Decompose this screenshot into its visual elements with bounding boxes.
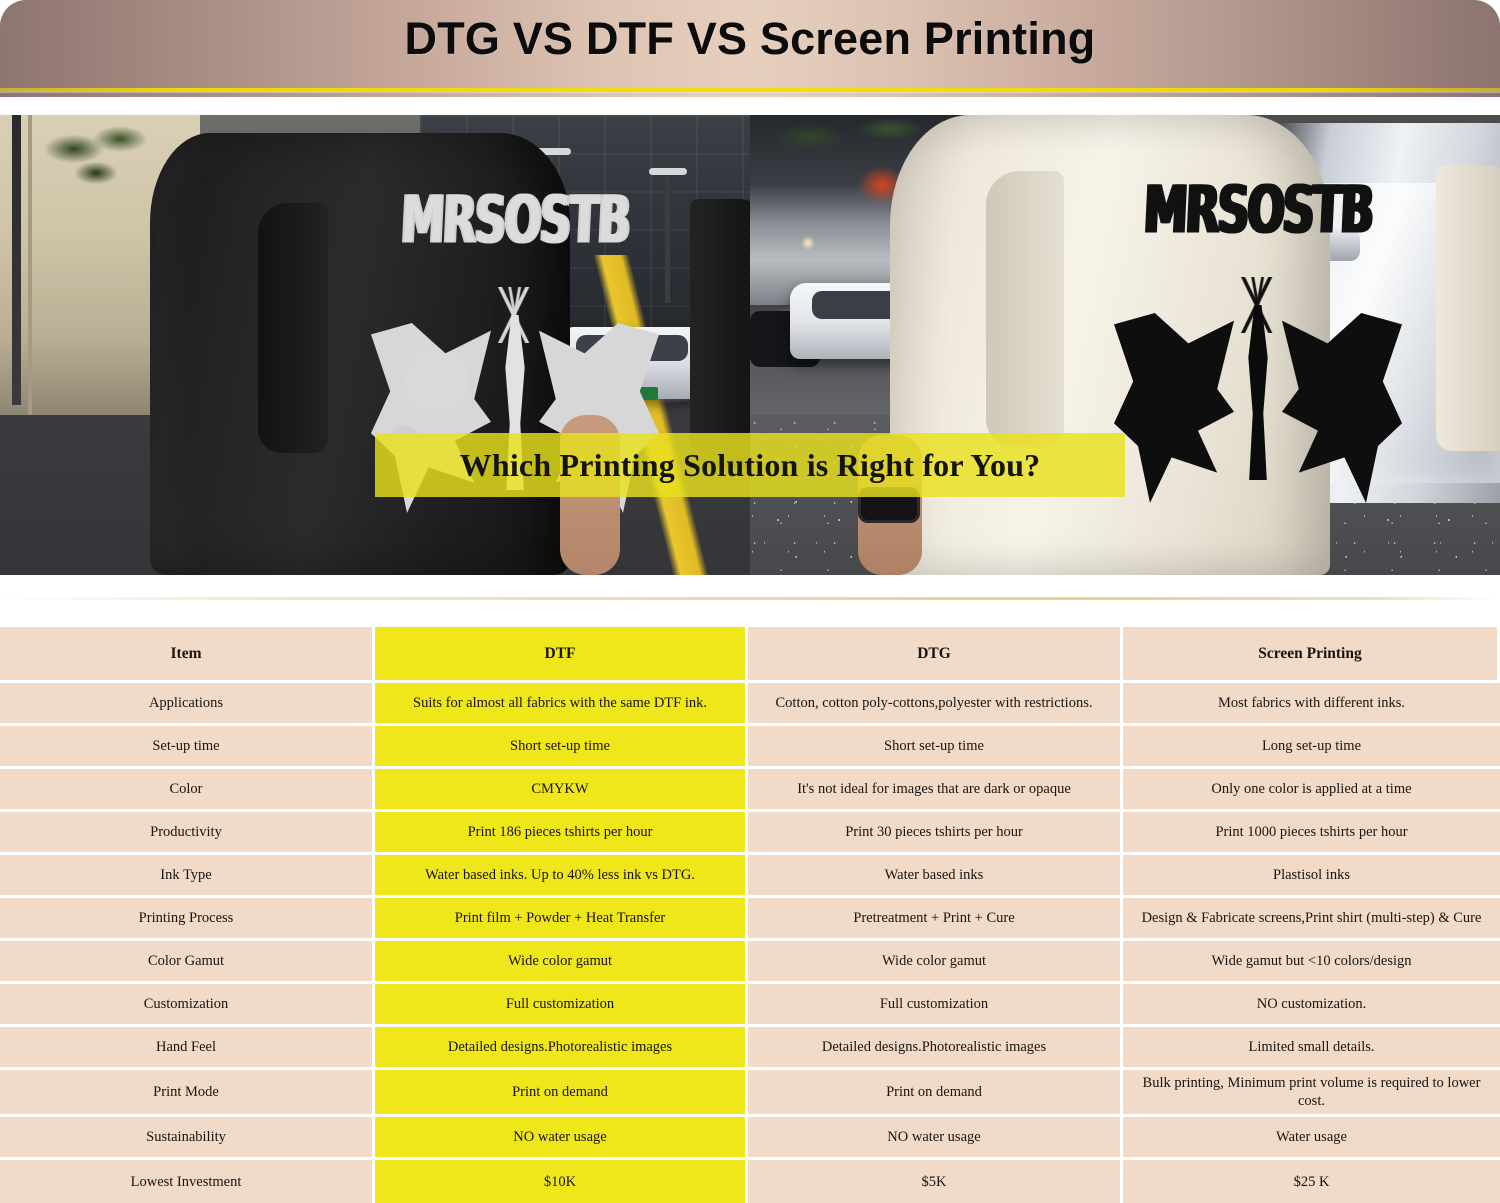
cell-screen: Wide gamut but <10 colors/design [1123, 941, 1500, 984]
cream-tshirt: MRSOSTB [890, 115, 1330, 575]
butterfly-wing-right [1282, 313, 1402, 503]
cell-dtf: CMYKW [375, 769, 748, 812]
hero-question-text: Which Printing Solution is Right for You… [460, 447, 1041, 484]
table-row: Print ModePrint on demandPrint on demand… [0, 1070, 1500, 1117]
hero-question-banner: Which Printing Solution is Right for You… [375, 433, 1125, 497]
cell-dtg: Cotton, cotton poly-cottons,polyester wi… [748, 683, 1123, 726]
table-row: Ink TypeWater based inks. Up to 40% less… [0, 855, 1500, 898]
hero-image-left: MRSOSTB [0, 115, 750, 575]
cell-dtg: Short set-up time [748, 726, 1123, 769]
column-header-item: Item [0, 627, 375, 683]
row-label: Color Gamut [0, 941, 375, 984]
cell-dtf: Print on demand [375, 1070, 748, 1117]
street-pole-left [12, 115, 21, 405]
row-label: Printing Process [0, 898, 375, 941]
row-label: Productivity [0, 812, 375, 855]
row-label: Customization [0, 984, 375, 1027]
cell-dtg: Print on demand [748, 1070, 1123, 1117]
cell-dtg: Print 30 pieces tshirts per hour [748, 812, 1123, 855]
section-divider [0, 597, 1500, 600]
cell-dtg: It's not ideal for images that are dark … [748, 769, 1123, 812]
tshirt-sleeve-left [986, 171, 1064, 447]
cell-screen: Limited small details. [1123, 1027, 1500, 1070]
table-row: SustainabilityNO water usageNO water usa… [0, 1117, 1500, 1160]
table-row: Hand FeelDetailed designs.Photorealistic… [0, 1027, 1500, 1070]
row-label: Set-up time [0, 726, 375, 769]
tshirt-graphic-white: MRSOSTB [365, 195, 665, 555]
row-label: Hand Feel [0, 1027, 375, 1070]
comparison-table: Item DTF DTG Screen Printing Application… [0, 627, 1500, 1203]
cell-screen: Water usage [1123, 1117, 1500, 1160]
row-label: Ink Type [0, 855, 375, 898]
cell-dtg: $5K [748, 1160, 1123, 1203]
table-row: CustomizationFull customizationFull cust… [0, 984, 1500, 1027]
cell-dtg: NO water usage [748, 1117, 1123, 1160]
cell-dtf: Short set-up time [375, 726, 748, 769]
cell-dtg: Wide color gamut [748, 941, 1123, 984]
table-row: ApplicationsSuits for almost all fabrics… [0, 683, 1500, 726]
tshirt-sleeve-left [258, 203, 328, 453]
black-tshirt: MRSOSTB [150, 133, 570, 575]
cell-dtg: Detailed designs.Photorealistic images [748, 1027, 1123, 1070]
cell-dtf: Full customization [375, 984, 748, 1027]
table-head: Item DTF DTG Screen Printing [0, 627, 1500, 683]
cell-screen: Print 1000 pieces tshirts per hour [1123, 812, 1500, 855]
table-row: Set-up timeShort set-up timeShort set-up… [0, 726, 1500, 769]
row-label: Lowest Investment [0, 1160, 375, 1203]
tshirt-sleeve-right [1436, 165, 1500, 451]
hero-image-right: MRSOSTB [750, 115, 1500, 575]
cell-dtg: Full customization [748, 984, 1123, 1027]
cell-screen: Bulk printing, Minimum print volume is r… [1123, 1070, 1500, 1117]
cell-dtf: Print film + Powder + Heat Transfer [375, 898, 748, 941]
table-header-row: Item DTF DTG Screen Printing [0, 627, 1500, 683]
cell-dtf: Water based inks. Up to 40% less ink vs … [375, 855, 748, 898]
cell-dtf: $10K [375, 1160, 748, 1203]
row-label: Sustainability [0, 1117, 375, 1160]
tshirt-graphic-black: MRSOSTB [1108, 185, 1408, 553]
cell-dtf: Print 186 pieces tshirts per hour [375, 812, 748, 855]
table-row: Printing ProcessPrint film + Powder + He… [0, 898, 1500, 941]
table-row: ColorCMYKWIt's not ideal for images that… [0, 769, 1500, 812]
cell-dtf: Detailed designs.Photorealistic images [375, 1027, 748, 1070]
cell-screen: Design & Fabricate screens,Print shirt (… [1123, 898, 1500, 941]
infographic-page: DTG VS DTF VS Screen Printing MRSOSTB [0, 0, 1500, 1194]
tree-foliage-left [40, 121, 160, 199]
tshirt-sleeve-right [690, 199, 750, 469]
column-header-screen-printing: Screen Printing [1123, 627, 1500, 683]
cell-screen: Plastisol inks [1123, 855, 1500, 898]
graphic-wordmark: MRSOSTB [1106, 172, 1410, 249]
graphic-wordmark: MRSOSTB [363, 182, 667, 259]
column-header-dtg: DTG [748, 627, 1123, 683]
column-header-dtf: DTF [375, 627, 748, 683]
cell-screen: NO customization. [1123, 984, 1500, 1027]
row-label: Applications [0, 683, 375, 726]
row-label: Color [0, 769, 375, 812]
page-header: DTG VS DTF VS Screen Printing [0, 0, 1500, 97]
table-body: ApplicationsSuits for almost all fabrics… [0, 683, 1500, 1203]
cell-dtg: Water based inks [748, 855, 1123, 898]
cell-screen: Long set-up time [1123, 726, 1500, 769]
cell-dtf: Wide color gamut [375, 941, 748, 984]
header-accent-rule [0, 88, 1500, 92]
table-row: Lowest Investment$10K$5K$25 K [0, 1160, 1500, 1203]
cell-dtf: NO water usage [375, 1117, 748, 1160]
cell-screen: Most fabrics with different inks. [1123, 683, 1500, 726]
cell-screen: $25 K [1123, 1160, 1500, 1203]
table-row: Color GamutWide color gamutWide color ga… [0, 941, 1500, 984]
cell-screen: Only one color is applied at a time [1123, 769, 1500, 812]
table-row: ProductivityPrint 186 pieces tshirts per… [0, 812, 1500, 855]
row-label: Print Mode [0, 1070, 375, 1117]
cell-dtf: Suits for almost all fabrics with the sa… [375, 683, 748, 726]
butterfly-wing-left [1114, 313, 1234, 503]
cell-dtg: Pretreatment + Print + Cure [748, 898, 1123, 941]
page-title: DTG VS DTF VS Screen Printing [0, 13, 1500, 65]
hero-image-strip: MRSOSTB [0, 115, 1500, 575]
